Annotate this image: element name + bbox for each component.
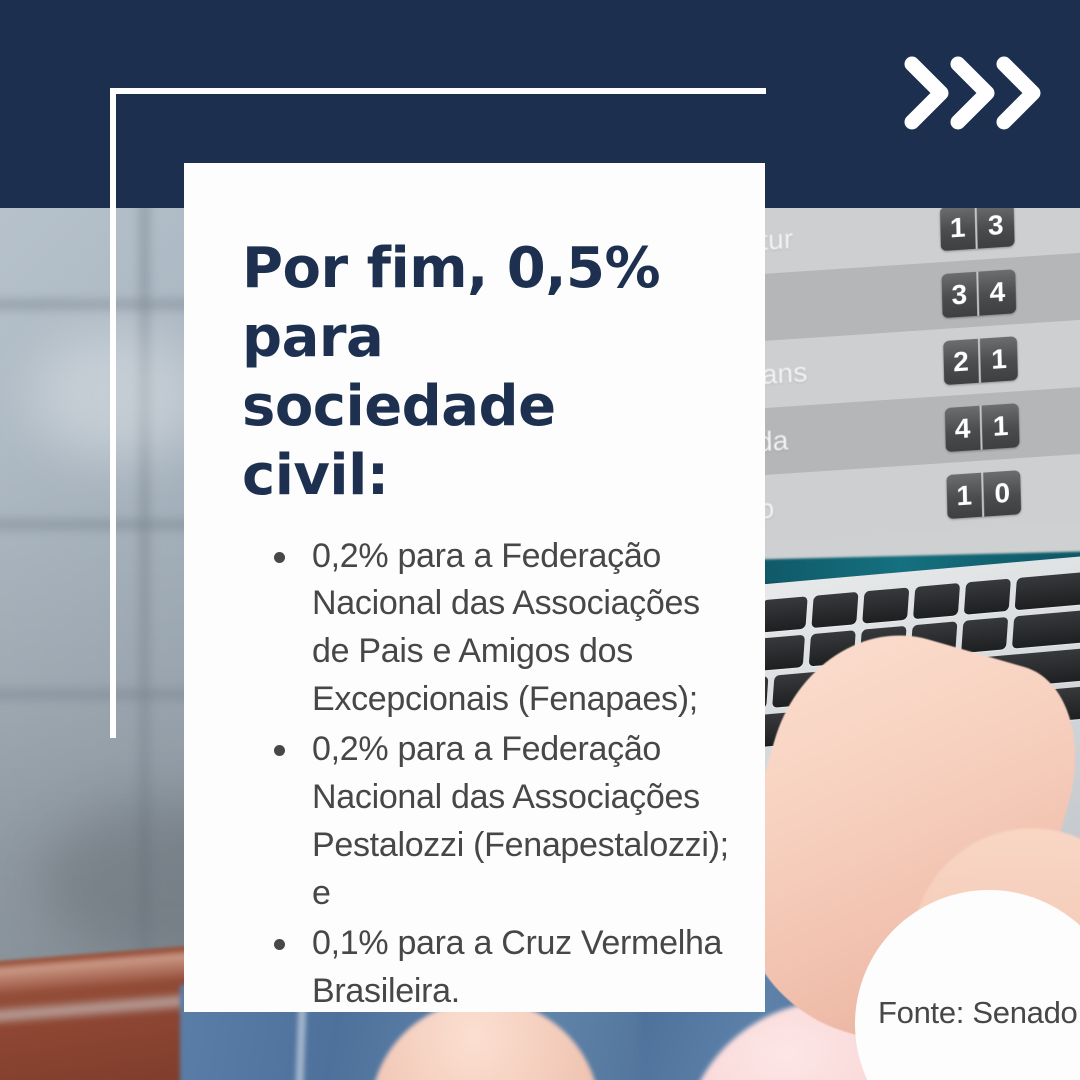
keyboard-key [913,583,960,619]
list-item: 0,2% para a Federação Nacional das Assoc… [272,726,731,918]
pavement-mottle [30,330,210,460]
list-item: 0,1% para a Cruz Vermelha Brasileira. [272,920,731,1016]
triple-chevron-right-icon [900,52,1048,134]
score-digit: 2 [943,338,981,384]
score-digit: 1 [946,472,984,518]
score-digit: 1 [982,403,1020,449]
screen-row-score: 1 3 [940,202,1015,251]
score-digit: 0 [983,470,1021,516]
source-badge-label: Fonte: Senado [878,995,1080,1031]
screen-row-score: 1 0 [946,470,1021,519]
keyboard-key [811,592,858,628]
content-card: Por fim, 0,5% para sociedade civil: 0,2%… [184,163,765,1012]
score-digit: 1 [940,204,978,250]
keyboard-key [1012,608,1080,649]
score-digit: 1 [980,336,1018,382]
screen-row-score: 2 1 [943,336,1018,385]
decorative-frame-horizontal [110,88,766,94]
score-digit: 4 [978,269,1016,315]
keyboard-key [964,579,1011,615]
decorative-frame-vertical [110,88,116,738]
score-digit: 3 [977,202,1015,248]
social-card-canvas: etetur 1 3 rint 3 4 nidans 2 1 [0,0,1080,1080]
keyboard-key [761,596,808,632]
page-title: Por fim, 0,5% para sociedade civil: [242,235,662,511]
keyboard-key [862,587,909,623]
list-item: 0,2% para a Federação Nacional das Assoc… [272,533,731,725]
screen-row-score: 3 4 [941,269,1016,318]
keyboard-key [961,617,1008,653]
screen-row-score: 4 1 [945,403,1020,452]
bullet-list: 0,2% para a Federação Nacional das Assoc… [242,533,731,1016]
score-digit: 3 [941,271,979,317]
score-digit: 4 [945,405,983,451]
